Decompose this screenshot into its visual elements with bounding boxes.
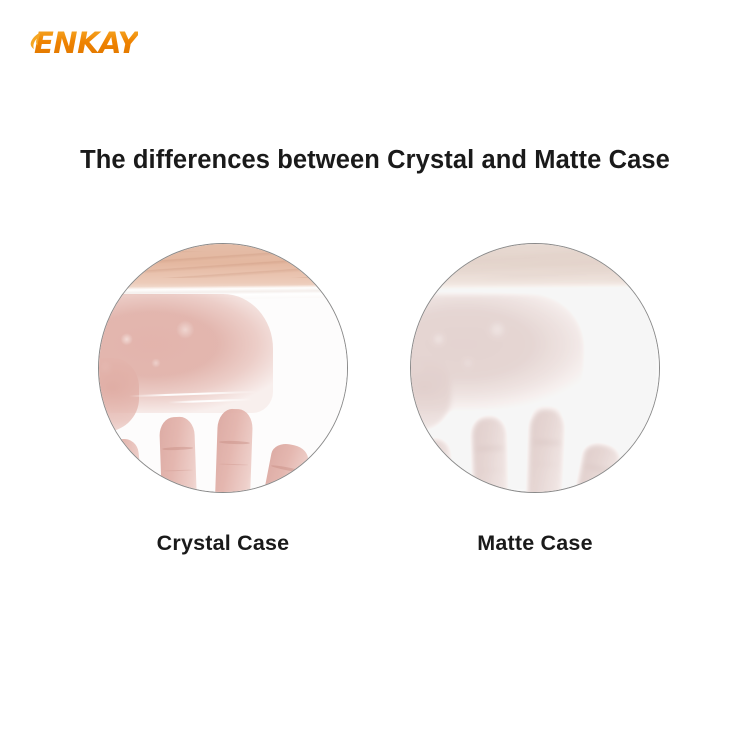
finger [569, 441, 622, 493]
finger [257, 441, 310, 493]
sample-image-crystal [98, 243, 348, 493]
hand-photo-matte [411, 244, 659, 492]
finger [416, 437, 459, 493]
flame-swoosh-icon [30, 32, 41, 54]
product-comparison-page: { "brand": { "name": "ENKAY", "logo_icon… [0, 0, 750, 750]
brand-name: ENKAY [34, 29, 138, 58]
fingers-region [411, 388, 659, 493]
comparison-item-matte: Matte Case [410, 243, 660, 556]
sample-label-crystal: Crystal Case [98, 531, 348, 556]
comparison-item-crystal: Crystal Case [98, 243, 348, 556]
finger [525, 409, 564, 493]
brand-logo: ENKAY [30, 26, 138, 60]
finger [213, 409, 252, 493]
finger [159, 417, 198, 493]
sample-label-matte: Matte Case [410, 531, 660, 556]
finger [471, 417, 510, 493]
fingers-region [99, 388, 347, 493]
sample-image-matte [410, 243, 660, 493]
finger [104, 437, 147, 493]
page-title: The differences between Crystal and Matt… [0, 146, 750, 175]
hand-photo-crystal [99, 244, 347, 492]
